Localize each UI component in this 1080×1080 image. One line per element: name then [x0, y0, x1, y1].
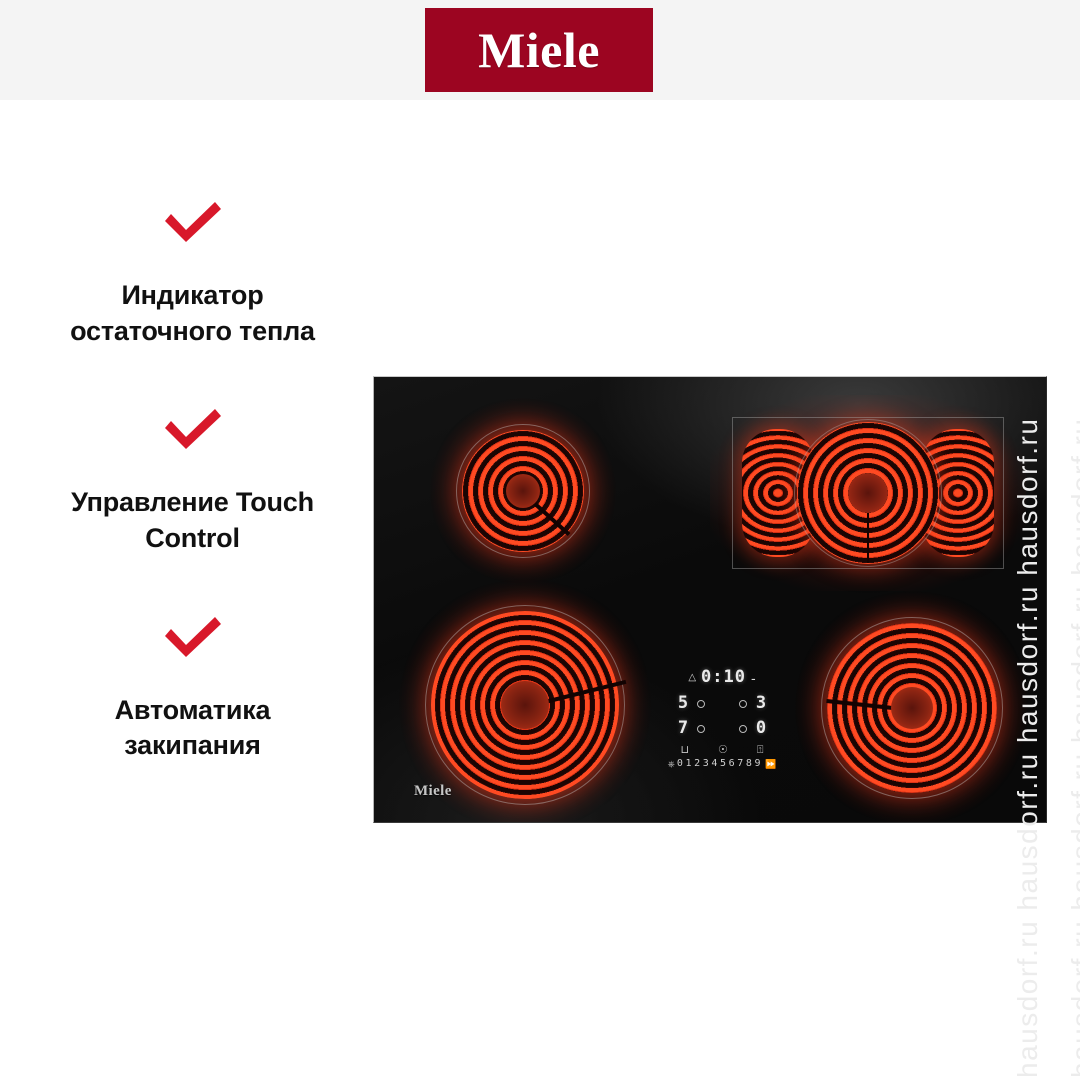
feature-label: Индикатор остаточного тепла: [20, 278, 365, 349]
miele-logo: Miele: [425, 8, 653, 92]
clock-icon: △: [688, 673, 696, 683]
zone-value-rear-left: 5: [674, 695, 692, 712]
zone-center-core: [506, 474, 540, 508]
booster-icon[interactable]: ⏩: [765, 760, 776, 769]
check-icon: [161, 407, 225, 451]
zone-value-front-left: 7: [674, 720, 692, 737]
header-band: Miele: [0, 0, 1080, 100]
lock-icon[interactable]: ⍐: [757, 745, 764, 756]
feature-label: Управление Touch Control: [20, 485, 365, 556]
zone-indicator-dot: [697, 725, 705, 733]
cooking-zone-front-left: [425, 605, 625, 805]
timer-value: 0:10: [701, 669, 746, 686]
timer-suffix: -: [751, 671, 756, 685]
zone-indicator-dot: [739, 725, 747, 733]
zone-center-core: [891, 687, 933, 729]
cooking-zone-front-right: [821, 617, 1003, 799]
timer-icon[interactable]: ☉: [718, 745, 728, 756]
zone-value-rear-right: 3: [752, 695, 770, 712]
timer-display-row: △ 0:10 -: [652, 669, 792, 686]
keep-warm-icon[interactable]: ⊔: [680, 745, 689, 756]
feature-item-touch-control: Управление Touch Control: [20, 407, 365, 556]
zone-center-core: [501, 681, 549, 729]
miele-logo-text: Miele: [478, 25, 600, 75]
zone-indicator-dot: [697, 700, 705, 708]
feature-item-boil-automatic: Автоматика закипания: [20, 615, 365, 764]
zone-display-row-front: 7 0: [652, 720, 792, 737]
cooktop-surface: △ 0:10 - 5 3 7 0 ⊔ ☉ ⍐: [373, 376, 1047, 823]
roaster-zone-outline: [732, 417, 1004, 569]
promo-page: Miele Индикатор остаточного тепла Управл…: [0, 0, 1080, 1080]
slider-digits[interactable]: 0123456789: [677, 759, 763, 769]
feature-label: Автоматика закипания: [20, 693, 365, 764]
cooktop-brand-mark: Miele: [414, 783, 452, 800]
power-icon[interactable]: ⎈: [668, 760, 675, 769]
check-icon: [161, 615, 225, 659]
check-icon: [161, 200, 225, 244]
feature-item-residual-heat: Индикатор остаточного тепла: [20, 200, 365, 349]
feature-list: Индикатор остаточного тепла Управление T…: [20, 200, 365, 822]
cooking-zone-rear-right-roaster: [732, 417, 1004, 569]
touch-control-panel[interactable]: △ 0:10 - 5 3 7 0 ⊔ ☉ ⍐: [652, 669, 792, 789]
power-slider[interactable]: ⎈ 0123456789 ⏩: [652, 759, 792, 769]
cooking-zone-rear-left: [456, 424, 590, 558]
zone-indicator-dot: [739, 700, 747, 708]
zone-value-front-right: 0: [752, 720, 770, 737]
watermark-text: hausdorf.ru hausdorf.ru hausdorf.ru haus…: [1066, 418, 1080, 1078]
zone-display-row-rear: 5 3: [652, 695, 792, 712]
function-icon-row: ⊔ ☉ ⍐: [666, 745, 778, 756]
